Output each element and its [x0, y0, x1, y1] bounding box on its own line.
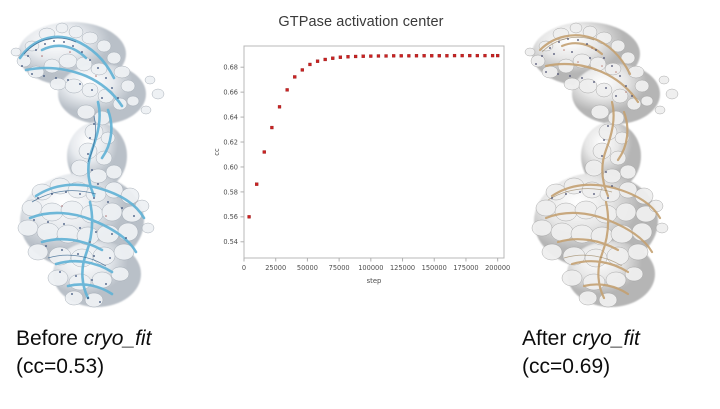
data-point [278, 105, 281, 108]
data-point [362, 55, 365, 58]
data-point [331, 57, 334, 60]
caption-before-prefix: Before [16, 327, 84, 350]
x-tick-label: 150000 [422, 264, 447, 272]
y-tick-label: 0.62 [223, 138, 238, 146]
data-point [461, 54, 464, 57]
chart-plot-area: 0250005000075000100000125000150000175000… [208, 36, 514, 304]
plot-frame [244, 46, 504, 258]
y-tick-label: 0.56 [223, 213, 238, 221]
data-point [468, 54, 471, 57]
data-point [476, 54, 479, 57]
x-tick-label: 200000 [485, 264, 510, 272]
data-point [453, 54, 456, 57]
data-point [354, 55, 357, 58]
data-point [445, 54, 448, 57]
data-point [248, 215, 251, 218]
y-tick-label: 0.66 [223, 89, 238, 97]
data-point [423, 54, 426, 57]
x-tick-label: 175000 [453, 264, 478, 272]
data-point [316, 60, 319, 63]
slide-root: GTPase activation center 025000500007500… [0, 0, 720, 409]
caption-after-program: cryo_fit [572, 327, 640, 350]
y-tick-label: 0.54 [223, 238, 238, 246]
data-point [270, 126, 273, 129]
y-tick-label: 0.60 [223, 163, 238, 171]
data-point [484, 54, 487, 57]
caption-after-cc: (cc=0.69) [522, 353, 640, 381]
data-point [286, 88, 289, 91]
caption-before-program: cryo_fit [84, 327, 152, 350]
ribosome-density-map-before-icon [2, 6, 202, 316]
data-point [430, 54, 433, 57]
data-point [301, 68, 304, 71]
x-tick-label: 50000 [297, 264, 318, 272]
caption-after-prefix: After [522, 327, 572, 350]
ribosome-density-map-after-icon [516, 6, 716, 316]
structure-panel-before [2, 6, 202, 316]
x-tick-label: 125000 [390, 264, 415, 272]
x-tick-label: 0 [242, 264, 246, 272]
caption-after-line1: After cryo_fit [522, 327, 640, 350]
data-point [377, 55, 380, 58]
data-point [369, 55, 372, 58]
data-point [400, 54, 403, 57]
x-axis-label: step [367, 277, 382, 285]
data-point [339, 56, 342, 59]
data-point [293, 75, 296, 78]
data-point [438, 54, 441, 57]
data-point [309, 63, 312, 66]
y-tick-label: 0.64 [223, 113, 238, 121]
data-point [347, 55, 350, 58]
caption-before: Before cryo_fit (cc=0.53) [16, 325, 151, 381]
x-tick-label: 75000 [329, 264, 350, 272]
data-point [255, 183, 258, 186]
chart-title: GTPase activation center [208, 14, 514, 30]
structure-panel-after [516, 6, 716, 316]
x-tick-label: 100000 [358, 264, 383, 272]
x-tick-label: 25000 [265, 264, 286, 272]
caption-before-cc: (cc=0.53) [16, 353, 151, 381]
caption-after: After cryo_fit (cc=0.69) [522, 325, 640, 381]
data-point [491, 54, 494, 57]
data-point [392, 54, 395, 57]
data-point [407, 54, 410, 57]
cc-vs-step-chart: GTPase activation center 025000500007500… [208, 8, 514, 304]
caption-before-line1: Before cryo_fit [16, 327, 151, 350]
data-point [263, 151, 266, 154]
y-tick-label: 0.68 [223, 64, 238, 72]
y-axis-label: cc [213, 148, 221, 156]
data-point [324, 58, 327, 61]
y-tick-label: 0.58 [223, 188, 238, 196]
data-point [415, 54, 418, 57]
data-point [496, 54, 499, 57]
data-point [385, 55, 388, 58]
